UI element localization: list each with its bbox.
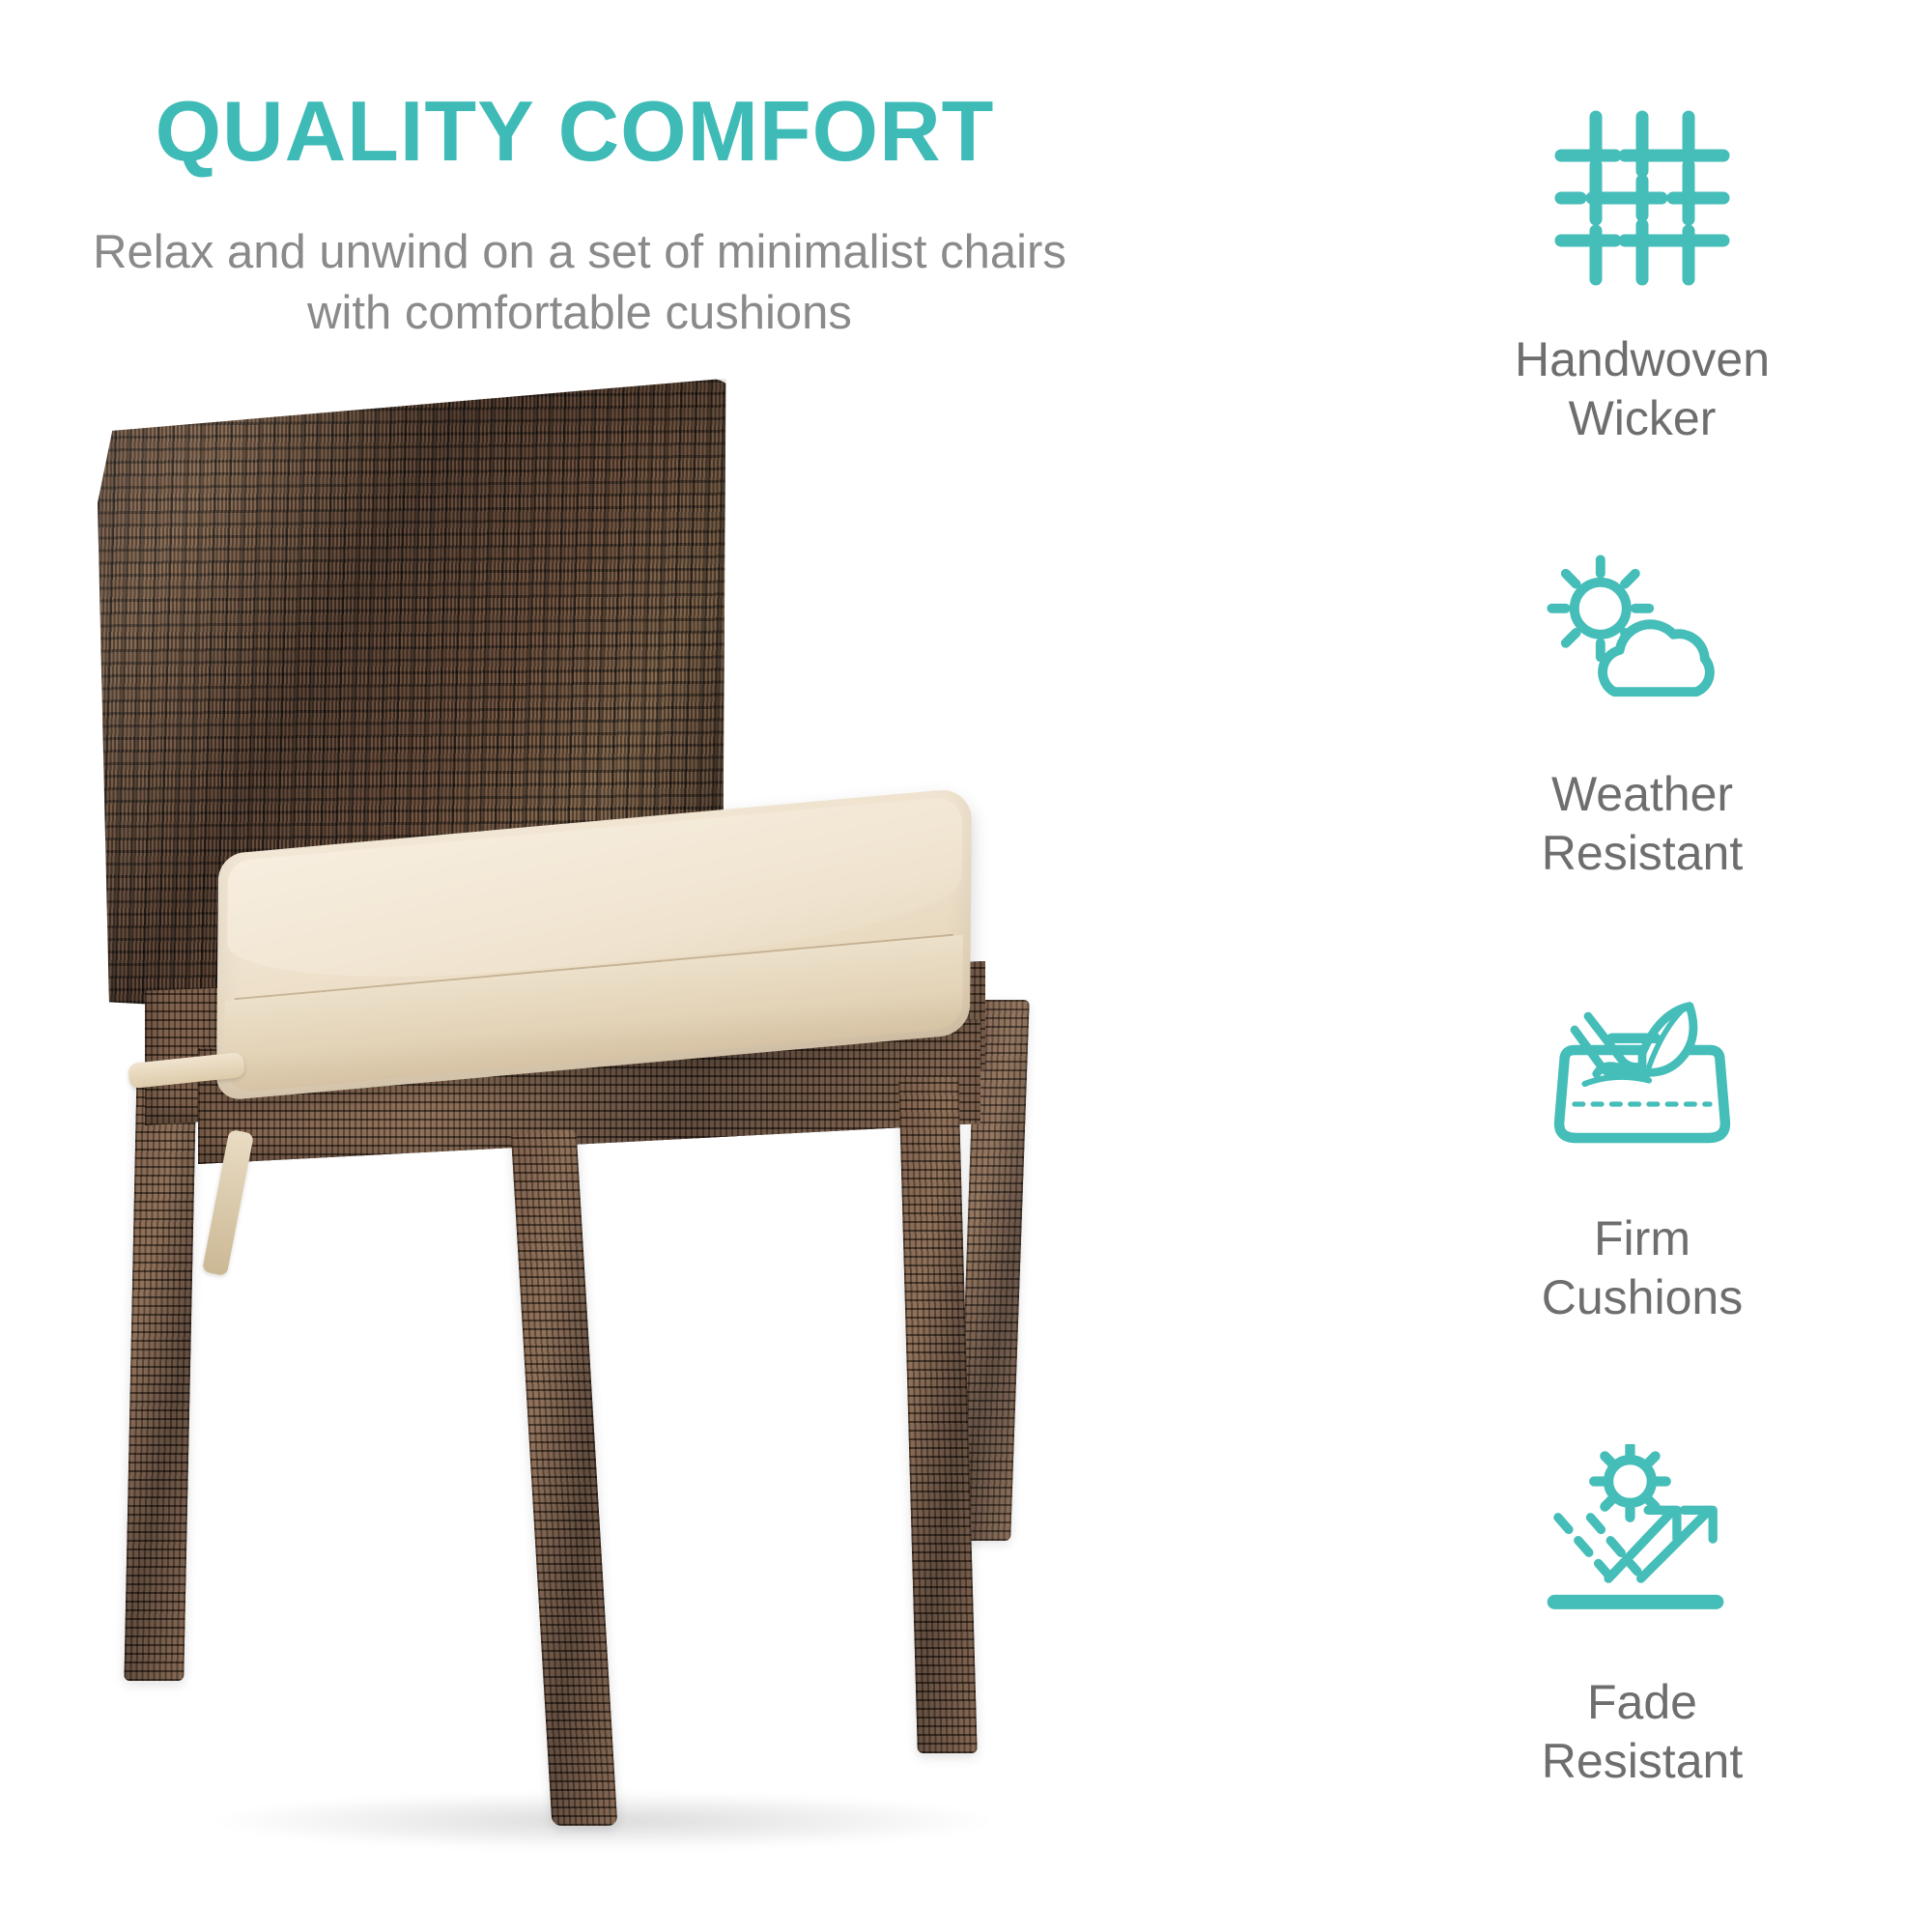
feature-item-firm-cushions: Firm Cushions bbox=[1381, 966, 1903, 1327]
feature-list: Handwoven Wicker bbox=[1381, 68, 1903, 1903]
product-feature-banner: QUALITY COMFORT Relax and unwind on a se… bbox=[0, 0, 1932, 1932]
chair-leg-front-right bbox=[898, 1077, 978, 1753]
feature-label: Weather Resistant bbox=[1381, 765, 1903, 883]
hand-pressing-cushion-icon bbox=[1381, 966, 1903, 1188]
feature-item-weather-resistant: Weather Resistant bbox=[1381, 522, 1903, 883]
sun-uv-reflect-icon bbox=[1381, 1430, 1903, 1652]
sun-cloud-icon bbox=[1381, 522, 1903, 744]
page-title: QUALITY COMFORT bbox=[0, 89, 1150, 174]
chair-leg-front-left bbox=[511, 1130, 618, 1826]
woven-wicker-icon bbox=[1381, 87, 1903, 309]
feature-label: Fade Resistant bbox=[1381, 1673, 1903, 1791]
product-image bbox=[92, 382, 1164, 1889]
page-subtitle: Relax and unwind on a set of minimalist … bbox=[77, 222, 1082, 343]
feature-item-handwoven-wicker: Handwoven Wicker bbox=[1381, 87, 1903, 448]
chair-leg-back-left bbox=[124, 1063, 196, 1681]
feature-label: Firm Cushions bbox=[1381, 1209, 1903, 1327]
feature-label: Handwoven Wicker bbox=[1381, 330, 1903, 448]
feature-item-fade-resistant: Fade Resistant bbox=[1381, 1430, 1903, 1791]
